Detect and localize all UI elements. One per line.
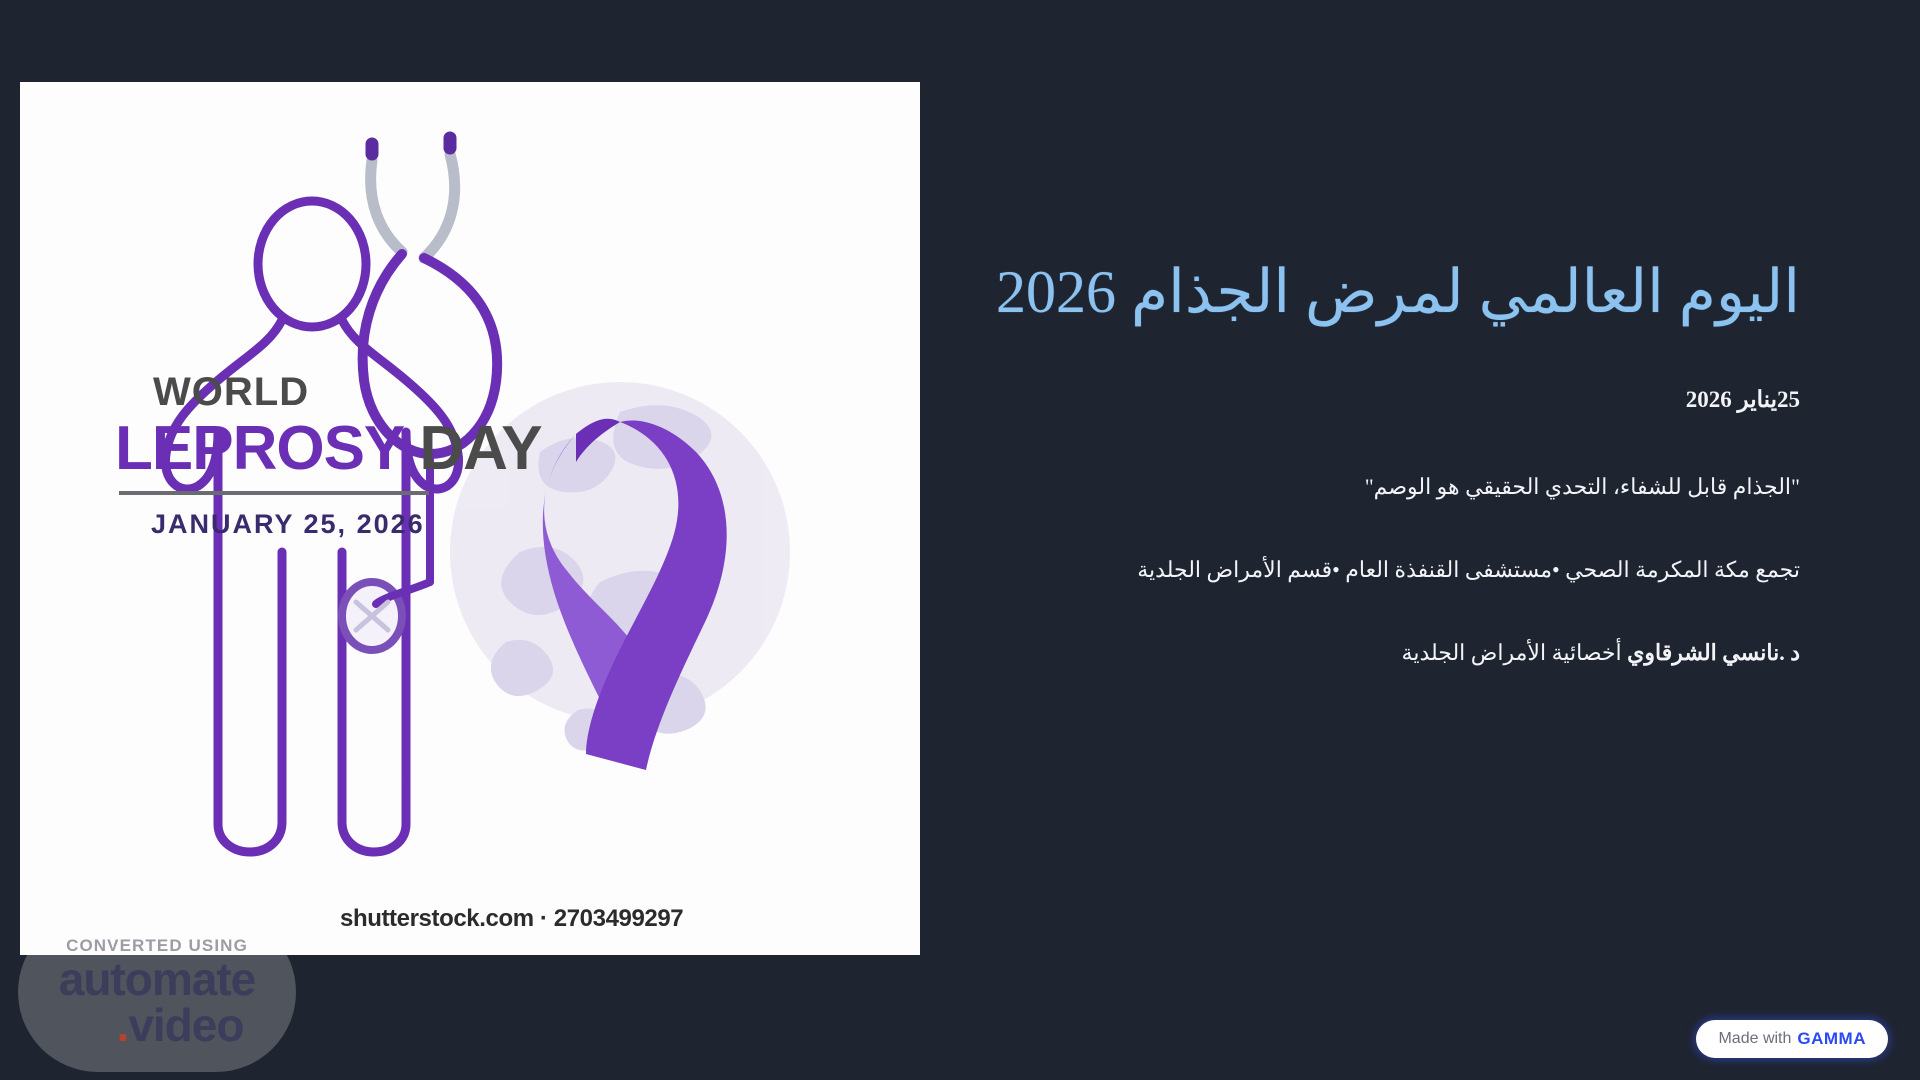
poster-heading-world: WORLD <box>153 372 515 412</box>
watermark-video-label: video <box>128 999 243 1051</box>
poster-heading-divider <box>119 491 429 495</box>
poster-heading-block: WORLD LEPROSY DAY JANUARY 25, 2026 <box>115 372 515 540</box>
poster-image: WORLD LEPROSY DAY JANUARY 25, 2026 shutt… <box>20 82 920 955</box>
poster-artwork: WORLD LEPROSY DAY JANUARY 25, 2026 shutt… <box>20 82 920 955</box>
event-date: 25يناير 2026 <box>950 382 1800 419</box>
poster-heading-main: LEPROSY DAY <box>115 416 515 481</box>
speaker-line: د .نانسي الشرقاوي أخصائية الأمراض الجلدي… <box>950 635 1800 670</box>
slide-content: اليوم العالمي لمرض الجذام 2026 25يناير 2… <box>950 82 1800 955</box>
watermark-dot: . <box>117 999 129 1051</box>
slide-canvas: WORLD LEPROSY DAY JANUARY 25, 2026 shutt… <box>0 0 1920 1080</box>
speaker-name: د .نانسي الشرقاوي <box>1627 640 1800 665</box>
watermark-automate: automate <box>59 958 255 1002</box>
poster-heading-leprosy: LEPROSY <box>115 414 403 483</box>
gamma-brand-label: GAMMA <box>1797 1029 1866 1049</box>
poster-heading-day: DAY <box>403 414 541 483</box>
organizer-info: تجمع مكة المكرمة الصحي •مستشفى القنفذة ا… <box>950 552 1800 587</box>
made-with-gamma-badge[interactable]: Made with GAMMA <box>1696 1020 1888 1058</box>
slide-details: 25يناير 2026 "الجذام قابل للشفاء، التحدي… <box>950 382 1800 670</box>
gamma-prefix-label: Made with <box>1718 1030 1791 1048</box>
event-quote: "الجذام قابل للشفاء، التحدي الحقيقي هو ا… <box>950 469 1800 504</box>
page-title: اليوم العالمي لمرض الجذام 2026 <box>950 82 1800 328</box>
watermark-video: .video <box>117 1002 244 1048</box>
stock-photo-credit: shutterstock.com · 2703499297 <box>340 905 683 933</box>
speaker-role: أخصائية الأمراض الجلدية <box>1402 640 1622 665</box>
poster-date: JANUARY 25, 2026 <box>151 509 515 540</box>
